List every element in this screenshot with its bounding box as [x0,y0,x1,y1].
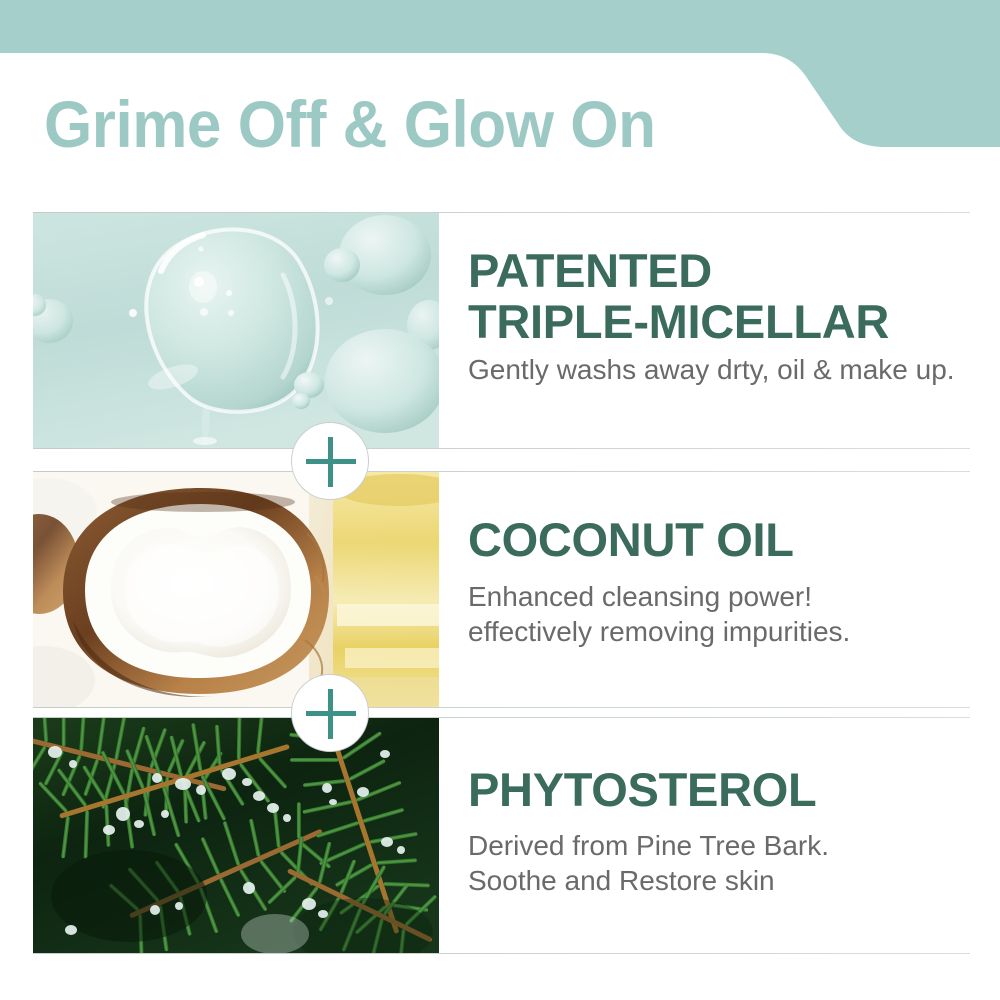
coconut-half-with-oil-bottle-photo [33,472,439,707]
feature-description: Gently washs away drty, oil & make up. [468,352,973,387]
page-title: Grime Off & Glow On [44,88,656,160]
feature-copy: COCONUT OIL Enhanced cleansing power! ef… [468,472,973,707]
feature-copy: PHYTOSTEROL Derived from Pine Tree Bark.… [468,718,973,953]
row-divider-bottom [33,448,970,449]
micellar-water-droplets-photo [33,213,439,448]
feature-description: Enhanced cleansing power! effectively re… [468,579,973,649]
feature-title: COCONUT OIL [468,514,973,565]
feature-title: PHYTOSTEROL [468,764,973,815]
feature-row-phytosterol: PHYTOSTEROL Derived from Pine Tree Bark.… [0,718,1000,953]
feature-description: Derived from Pine Tree Bark. Soothe and … [468,828,973,898]
feature-title: PATENTED TRIPLE-MICELLAR [468,245,973,347]
feature-copy: PATENTED TRIPLE-MICELLAR Gently washs aw… [468,213,973,448]
pine-needles-with-dew-photo [33,718,439,953]
feature-row-coconut: COCONUT OIL Enhanced cleansing power! ef… [0,472,1000,707]
plus-icon [291,422,369,500]
header-banner: Grime Off & Glow On [0,0,1000,200]
plus-icon-vertical-bar [328,437,333,487]
row-divider-bottom [33,953,970,954]
plus-icon-vertical-bar [328,689,333,739]
row-divider-bottom [33,707,970,708]
plus-icon [291,674,369,752]
feature-row-micellar: PATENTED TRIPLE-MICELLAR Gently washs aw… [0,213,1000,448]
